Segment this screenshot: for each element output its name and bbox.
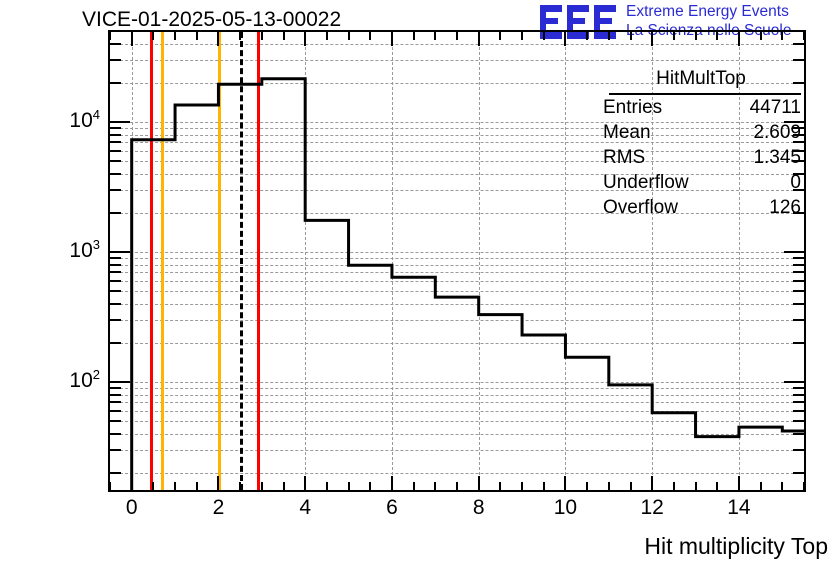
x-axis-tick-label: 8: [459, 496, 499, 520]
x-axis-tick-label: 6: [372, 496, 412, 520]
y-axis-tick-label: 104: [28, 107, 100, 133]
y-axis-tick-label: 102: [28, 367, 100, 393]
stats-box: HitMultTop Entries44711Mean2.609RMS1.345…: [595, 68, 807, 222]
stats-title: HitMultTop: [595, 68, 807, 92]
x-axis-tick-label: 4: [285, 496, 325, 520]
stats-row-value: 1.345: [753, 147, 801, 169]
page-title: VICE-01-2025-05-13-00022: [82, 8, 341, 32]
y-axis-tick-base: 10: [69, 369, 92, 392]
x-axis-tick-label: 10: [545, 496, 585, 520]
x-axis-title: Hit multiplicity Top: [644, 533, 836, 560]
stats-row-label: RMS: [603, 147, 645, 169]
stats-row-label: Entries: [603, 97, 662, 119]
y-axis-tick-exponent: 2: [93, 367, 100, 382]
stats-row: Overflow126: [595, 197, 807, 222]
stats-row-value: 126: [769, 197, 801, 219]
stats-row-value: 0: [790, 172, 801, 194]
stats-row: RMS1.345: [595, 147, 807, 172]
x-axis-tick-label: 2: [198, 496, 238, 520]
stats-row: Mean2.609: [595, 122, 807, 147]
y-axis-tick-base: 10: [69, 239, 92, 262]
stats-row: Entries44711: [595, 97, 807, 122]
x-axis-tick-label: 14: [719, 496, 759, 520]
stats-divider: [609, 93, 801, 95]
stats-row-value: 2.609: [753, 122, 801, 144]
y-axis-tick-exponent: 3: [93, 237, 100, 252]
stats-row-value: 44711: [750, 97, 801, 119]
x-axis-tick-label: 12: [632, 496, 672, 520]
stats-rows: Entries44711Mean2.609RMS1.345Underflow0O…: [595, 97, 807, 222]
y-axis-tick-base: 10: [69, 109, 92, 132]
y-axis-tick-label: 103: [28, 237, 100, 263]
stats-row-label: Underflow: [603, 172, 689, 194]
x-axis-tick-label: 0: [112, 496, 152, 520]
stats-row: Underflow0: [595, 172, 807, 197]
root-canvas: VICE-01-2025-05-13-00022 Extreme Energy …: [0, 0, 836, 572]
stats-row-label: Mean: [603, 122, 651, 144]
eee-logo-line1: Extreme Energy Events: [626, 3, 789, 21]
stats-row-label: Overflow: [603, 197, 678, 219]
y-axis-tick-exponent: 4: [93, 107, 100, 122]
